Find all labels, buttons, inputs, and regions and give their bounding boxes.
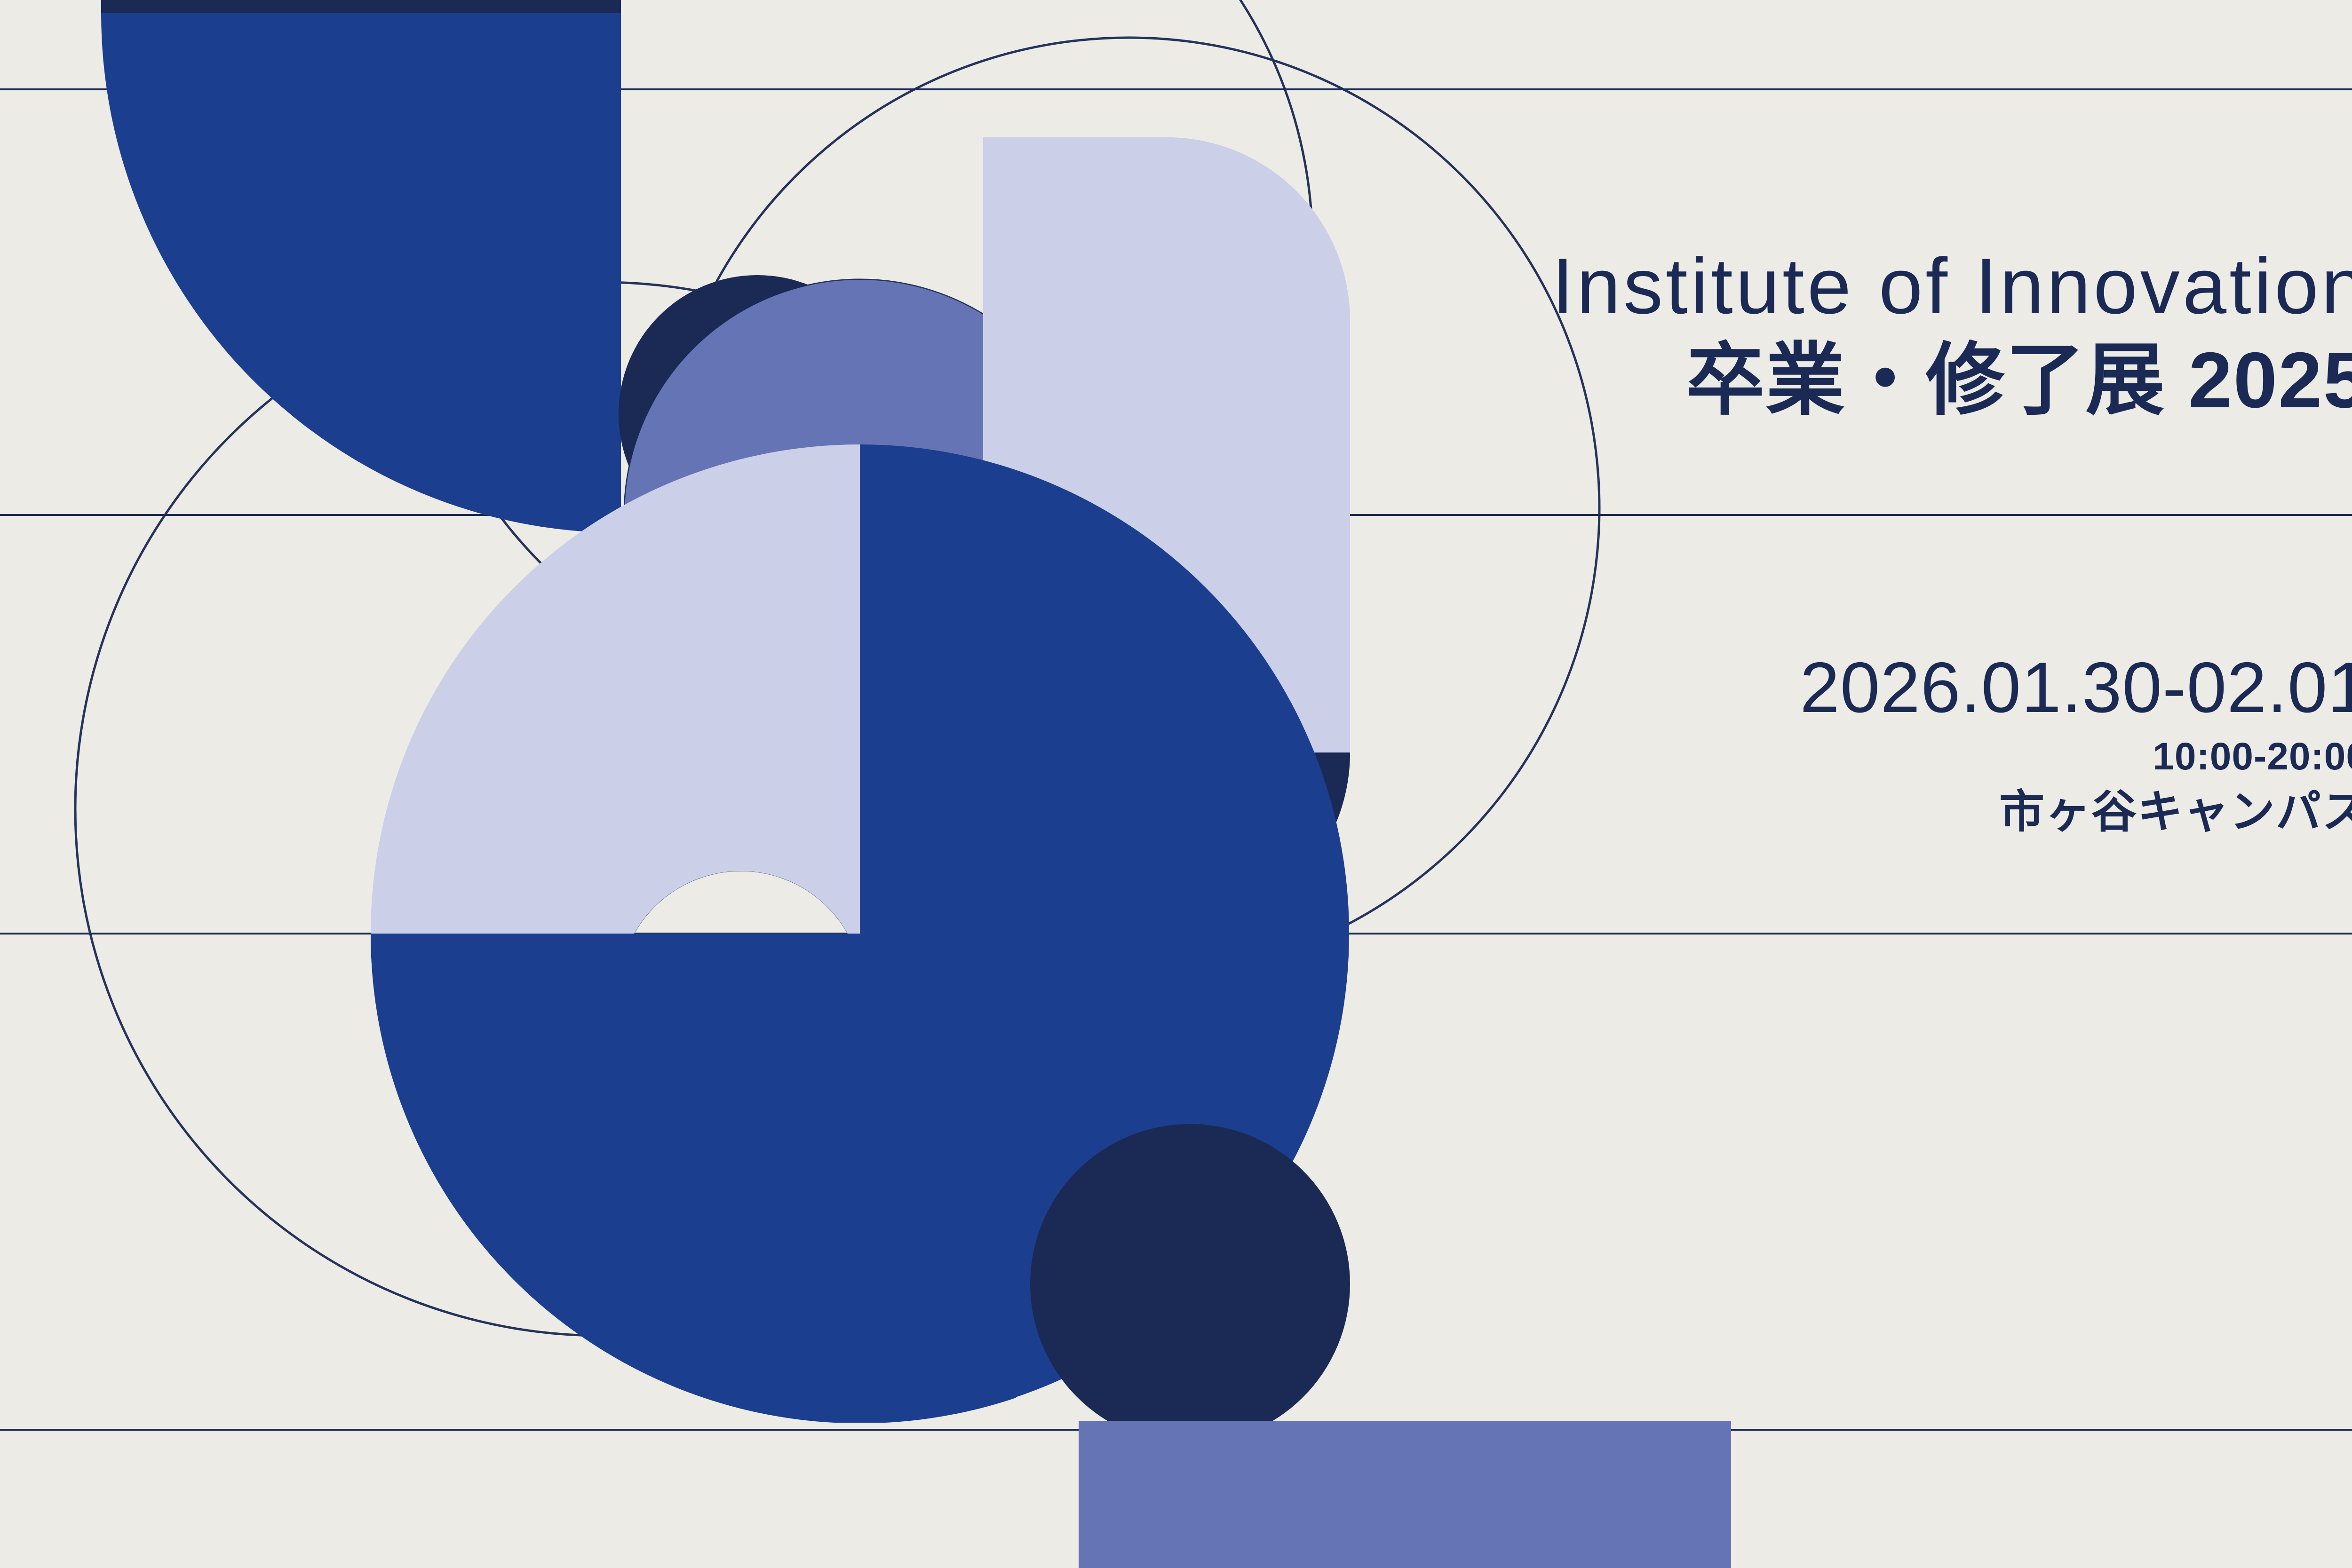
navy-disc-lower-right <box>1030 1124 1350 1444</box>
poster-canvas: Institute of Innovation 卒業・修了展 2025 2026… <box>0 0 2352 1568</box>
event-time: 10:00-20:00 <box>1239 733 2352 781</box>
top-left-navy-strip <box>101 0 621 13</box>
title-block: Institute of Innovation 卒業・修了展 2025 <box>1239 245 2352 428</box>
periwinkle-bottom-rect <box>1079 1421 1731 1568</box>
event-venue: 市ヶ谷キャンパス <box>1239 785 2352 839</box>
event-info-block: 2026.01.30-02.01 10:00-20:00 市ヶ谷キャンパス <box>1239 649 2352 839</box>
title-english: Institute of Innovation <box>1239 245 2352 327</box>
event-date: 2026.01.30-02.01 <box>1239 649 2352 726</box>
title-japanese: 卒業・修了展 2025 <box>1239 332 2352 428</box>
